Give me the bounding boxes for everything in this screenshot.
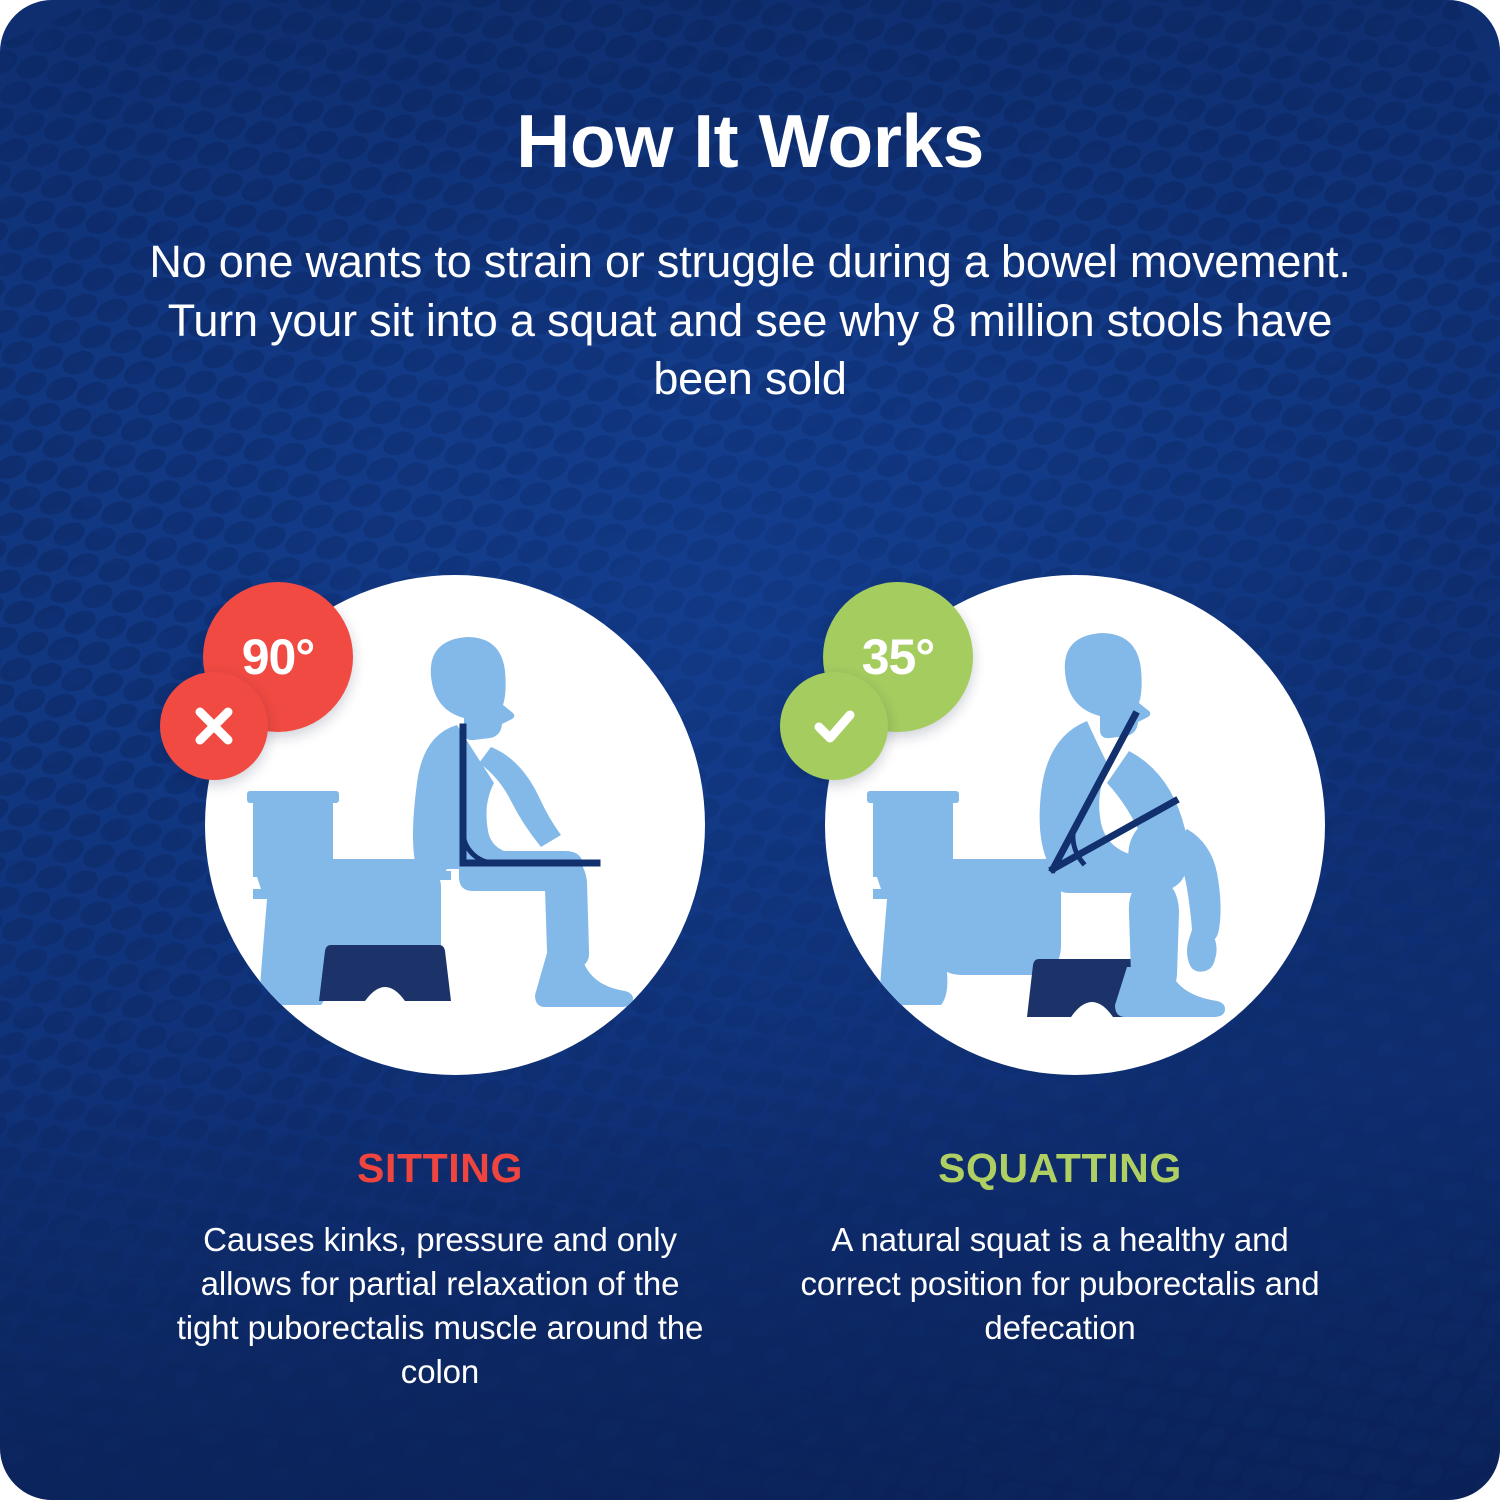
check-mark-icon [808,700,860,752]
header-block: How It Works No one wants to strain or s… [0,104,1500,409]
badge-check-squatting [780,672,888,780]
badge-angle-squatting-label: 35° [862,628,935,686]
seated-person-figure [413,637,633,1007]
x-mark-icon [188,700,240,752]
badge-x-sitting [160,672,268,780]
caption-body-squatting: A natural squat is a healthy and correct… [790,1218,1330,1350]
infographic-canvas: How It Works No one wants to strain or s… [0,0,1500,1500]
caption-squatting: SQUATTING A natural squat is a healthy a… [775,1145,1345,1350]
caption-title-squatting: SQUATTING [775,1145,1345,1192]
infographic-card: How It Works No one wants to strain or s… [0,0,1500,1500]
page-subtitle: No one wants to strain or struggle durin… [143,233,1358,409]
caption-title-sitting: SITTING [155,1145,725,1192]
caption-body-sitting: Causes kinks, pressure and only allows f… [170,1218,710,1394]
page-title: How It Works [0,104,1500,179]
squatty-potty-stool-sitting [319,945,451,1001]
badge-angle-sitting-label: 90° [242,628,315,686]
caption-sitting: SITTING Causes kinks, pressure and only … [155,1145,725,1394]
